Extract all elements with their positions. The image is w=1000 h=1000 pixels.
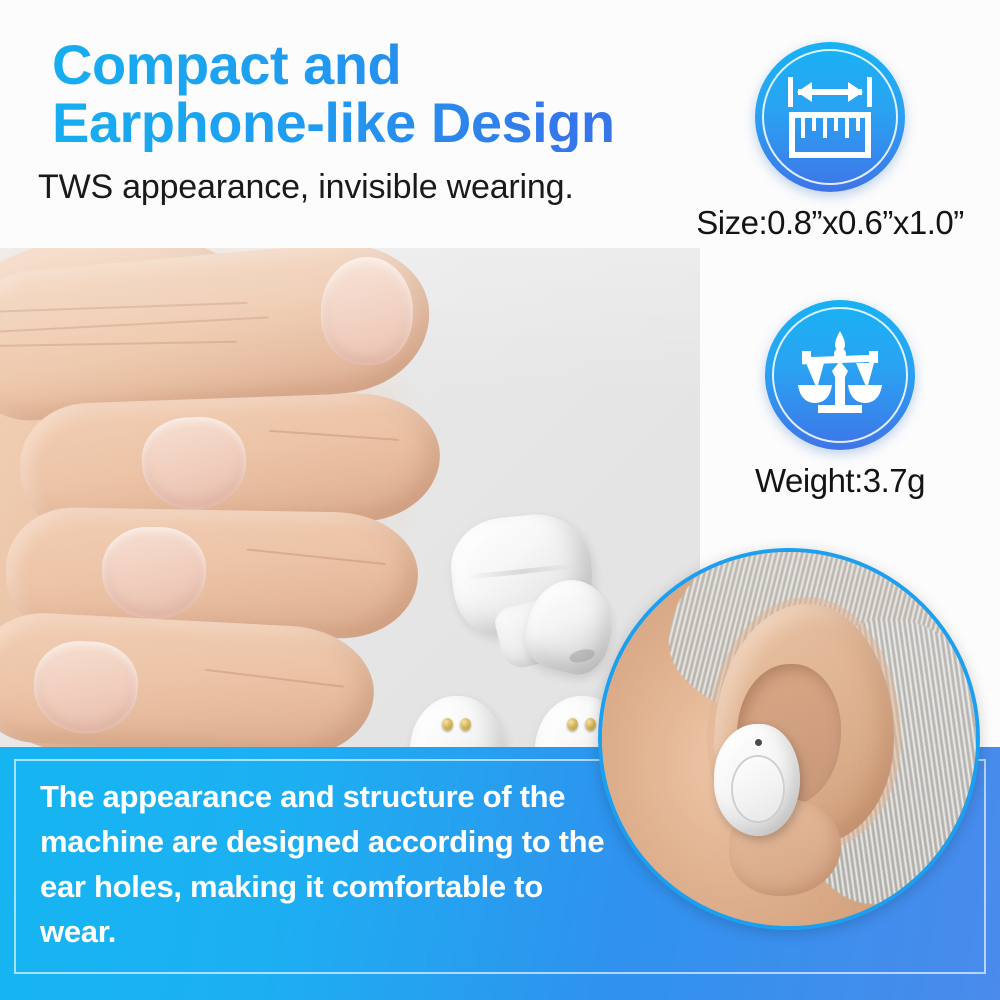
charging-contact bbox=[585, 718, 596, 731]
earbud-shell bbox=[410, 696, 504, 748]
thumb bbox=[0, 248, 436, 426]
hand-photo bbox=[0, 248, 460, 748]
product-photo bbox=[0, 248, 700, 748]
middle-finger bbox=[5, 506, 419, 639]
spec-size: Size:0.8”x0.6”x1.0” bbox=[680, 42, 980, 242]
palm bbox=[0, 248, 330, 748]
ring-finger bbox=[0, 610, 377, 748]
spec-weight-circle bbox=[765, 300, 915, 450]
ear-inset-photo bbox=[598, 548, 980, 930]
index-finger bbox=[18, 391, 442, 534]
finger-nail bbox=[31, 639, 140, 736]
spec-weight: Weight:3.7g bbox=[690, 300, 990, 500]
page-title: Compact and Earphone-like Design bbox=[52, 36, 712, 152]
microphone-dot-icon bbox=[755, 739, 762, 746]
spec-size-label: Size:0.8”x0.6”x1.0” bbox=[680, 204, 980, 242]
finger-nail bbox=[140, 415, 247, 511]
charging-contact bbox=[442, 718, 453, 731]
spec-weight-label: Weight:3.7g bbox=[690, 462, 990, 500]
charging-contact bbox=[567, 718, 578, 731]
hearing-aid-button bbox=[731, 755, 784, 822]
product-infographic: Compact and Earphone-like Design TWS app… bbox=[0, 0, 1000, 1000]
thumb-nail bbox=[320, 256, 414, 366]
spec-size-circle bbox=[755, 42, 905, 192]
ruler-icon bbox=[755, 42, 905, 192]
held-earbud-stem bbox=[492, 590, 592, 671]
balance-scale-icon bbox=[765, 300, 915, 450]
banner-text: The appearance and structure of the mach… bbox=[40, 775, 610, 955]
charging-contact bbox=[460, 718, 471, 731]
held-earbud-body bbox=[446, 509, 597, 639]
earbud-left bbox=[410, 696, 504, 748]
worn-hearing-aid bbox=[714, 724, 800, 836]
finger-nail bbox=[101, 526, 207, 620]
page-subtitle: TWS appearance, invisible wearing. bbox=[38, 168, 678, 207]
